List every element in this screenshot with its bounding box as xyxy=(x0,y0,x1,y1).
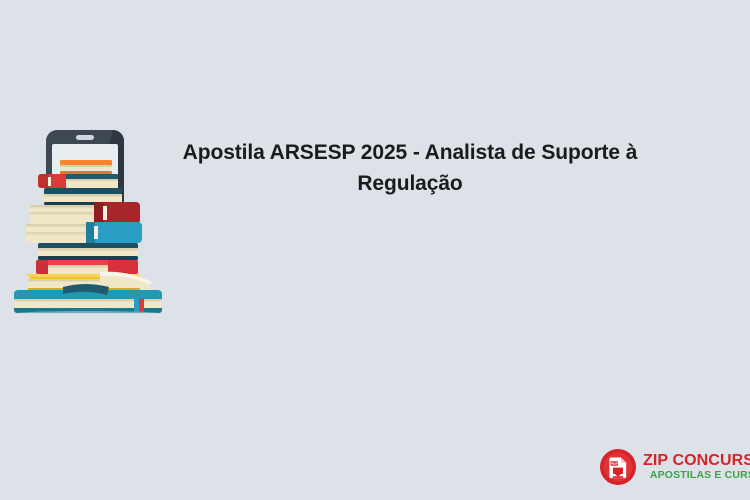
page-title: Apostila ARSESP 2025 - Analista de Supor… xyxy=(180,137,640,199)
svg-text:PDF: PDF xyxy=(611,462,619,466)
logo-primary-text: ZIP CONCURSOS xyxy=(643,452,750,469)
logo-secondary-text: APOSTILAS E CURSOS xyxy=(643,469,750,482)
book-layer-blue xyxy=(26,222,142,243)
book-layer-navy-2 xyxy=(38,243,138,260)
book-layer-pink xyxy=(36,260,138,274)
product-banner: Apostila ARSESP 2025 - Analista de Supor… xyxy=(0,0,750,500)
pdf-download-icon: PDF xyxy=(599,448,637,486)
stack-of-books-illustration xyxy=(8,122,176,314)
book-layer-dark-red xyxy=(30,202,140,224)
brand-logo[interactable]: PDF ZIP CONCURSOS APOSTILAS E CURSOS xyxy=(599,447,741,487)
title-block: Apostila ARSESP 2025 - Analista de Supor… xyxy=(180,137,640,199)
book-layer-red-teal xyxy=(38,174,118,188)
book-layer-orange xyxy=(60,160,112,175)
logo-wordmark: ZIP CONCURSOS APOSTILAS E CURSOS xyxy=(643,452,750,482)
